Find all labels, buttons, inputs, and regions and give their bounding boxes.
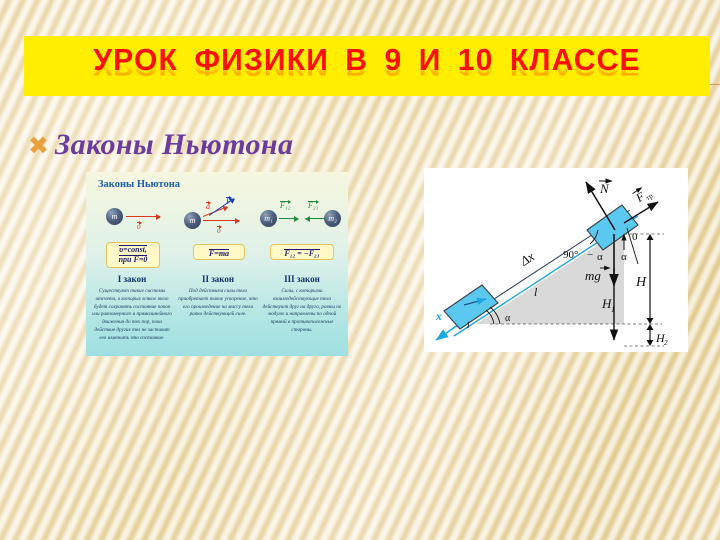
velocity-vector-label: υ [217,225,221,234]
velocity-arrow [126,216,160,217]
minus-sign-label: − [587,249,593,261]
third-law-name: III закон [260,274,344,284]
height-total-label: H [635,275,647,290]
title-reflection: УРОК ФИЗИКИ В 9 И 10 КЛАССЕ [34,64,699,81]
right-angle-label: 90° [563,249,578,261]
bullet-item: ✖ Законы Ньютона [28,128,293,162]
svg-text:1: 1 [611,305,615,314]
law-column-second: m a F υ F=ma II закон Под действием силы… [176,198,260,242]
first-law-diagram: m υ [90,198,174,242]
base-angle-label: α [505,313,511,324]
height-2-arrow-top [647,324,654,330]
third-law-diagram: m₁ m₂ F₁₂ F₂₁ [260,198,344,242]
cross-bullet-icon: ✖ [28,133,49,158]
angle-label-right: α [621,251,627,263]
force-12-arrow [279,218,298,219]
acceleration-vector-label: a [206,201,210,210]
newton-laws-image: Законы Ньютона m υ υ=const, при F=0 I за… [86,172,348,356]
second-law-diagram: m a F υ [176,198,260,242]
law-column-first: m υ υ=const, при F=0 I закон Существуют … [90,198,174,242]
bullet-item-label: Законы Ньютона [55,128,293,162]
first-law-body: Существуют такие системы отсчета, в кото… [92,288,172,343]
displacement-label: Δx [517,249,537,270]
title-banner: УРОК ФИЗИКИ В 9 И 10 КЛАССЕ УРОК ФИЗИКИ … [24,36,710,96]
slide-canvas: УРОК ФИЗИКИ В 9 И 10 КЛАССЕ УРОК ФИЗИКИ … [0,0,720,540]
inclined-plane-image: x 1 α N [424,168,688,352]
second-law-name: II закон [176,274,260,284]
mass-ball: m [184,212,201,229]
first-law-name: I закон [90,274,174,284]
third-law-body: Силы, с которыми взаимодействующие тела … [262,288,342,335]
velocity-vector-label: υ [137,221,141,230]
svg-text:Δx: Δx [517,249,537,270]
law-column-third: m₁ m₂ F₁₂ F₂₁ F₁₂ = −F₂₁ III закон Силы,… [260,198,344,242]
third-law-formula: F₁₂ = −F₂₁ [270,244,334,260]
svg-text:2: 2 [664,339,668,347]
laws-panel-heading: Законы Ньютона [98,179,180,190]
block-end [587,205,638,250]
force-21-label: F₂₁ [308,200,318,209]
angle-label-left: α [597,251,603,263]
height-total-arrow-bottom [647,318,654,324]
inclined-plane-svg: x 1 α N [424,168,688,352]
second-law-formula: F=ma [193,244,245,260]
mass-ball-1: m₁ [260,210,277,227]
friction-force-arrow [624,202,658,223]
svg-text:N: N [599,181,610,196]
mass-ball: m [106,208,123,225]
mass-ball-2: m₂ [324,210,341,227]
normal-force-label: N [599,181,612,196]
force-vector-label: F [226,196,231,205]
point-1-label: 1 [466,320,471,330]
force-12-label: F₁₂ [280,200,290,209]
velocity-arrow [203,220,239,221]
second-law-body: Под действием силы тело приобретает тако… [178,288,258,319]
height-2-arrow-bottom [647,340,654,346]
force-21-arrow [306,218,325,219]
height-2-label: H 2 [655,331,668,347]
friction-force-label: F тр [632,185,654,207]
height-total-arrow-top [647,234,654,240]
svg-text:mg: mg [585,268,601,283]
first-law-formula: υ=const, при F=0 [106,242,160,268]
x-axis-label: x [435,309,442,323]
point-0-label: 0 [632,231,638,243]
